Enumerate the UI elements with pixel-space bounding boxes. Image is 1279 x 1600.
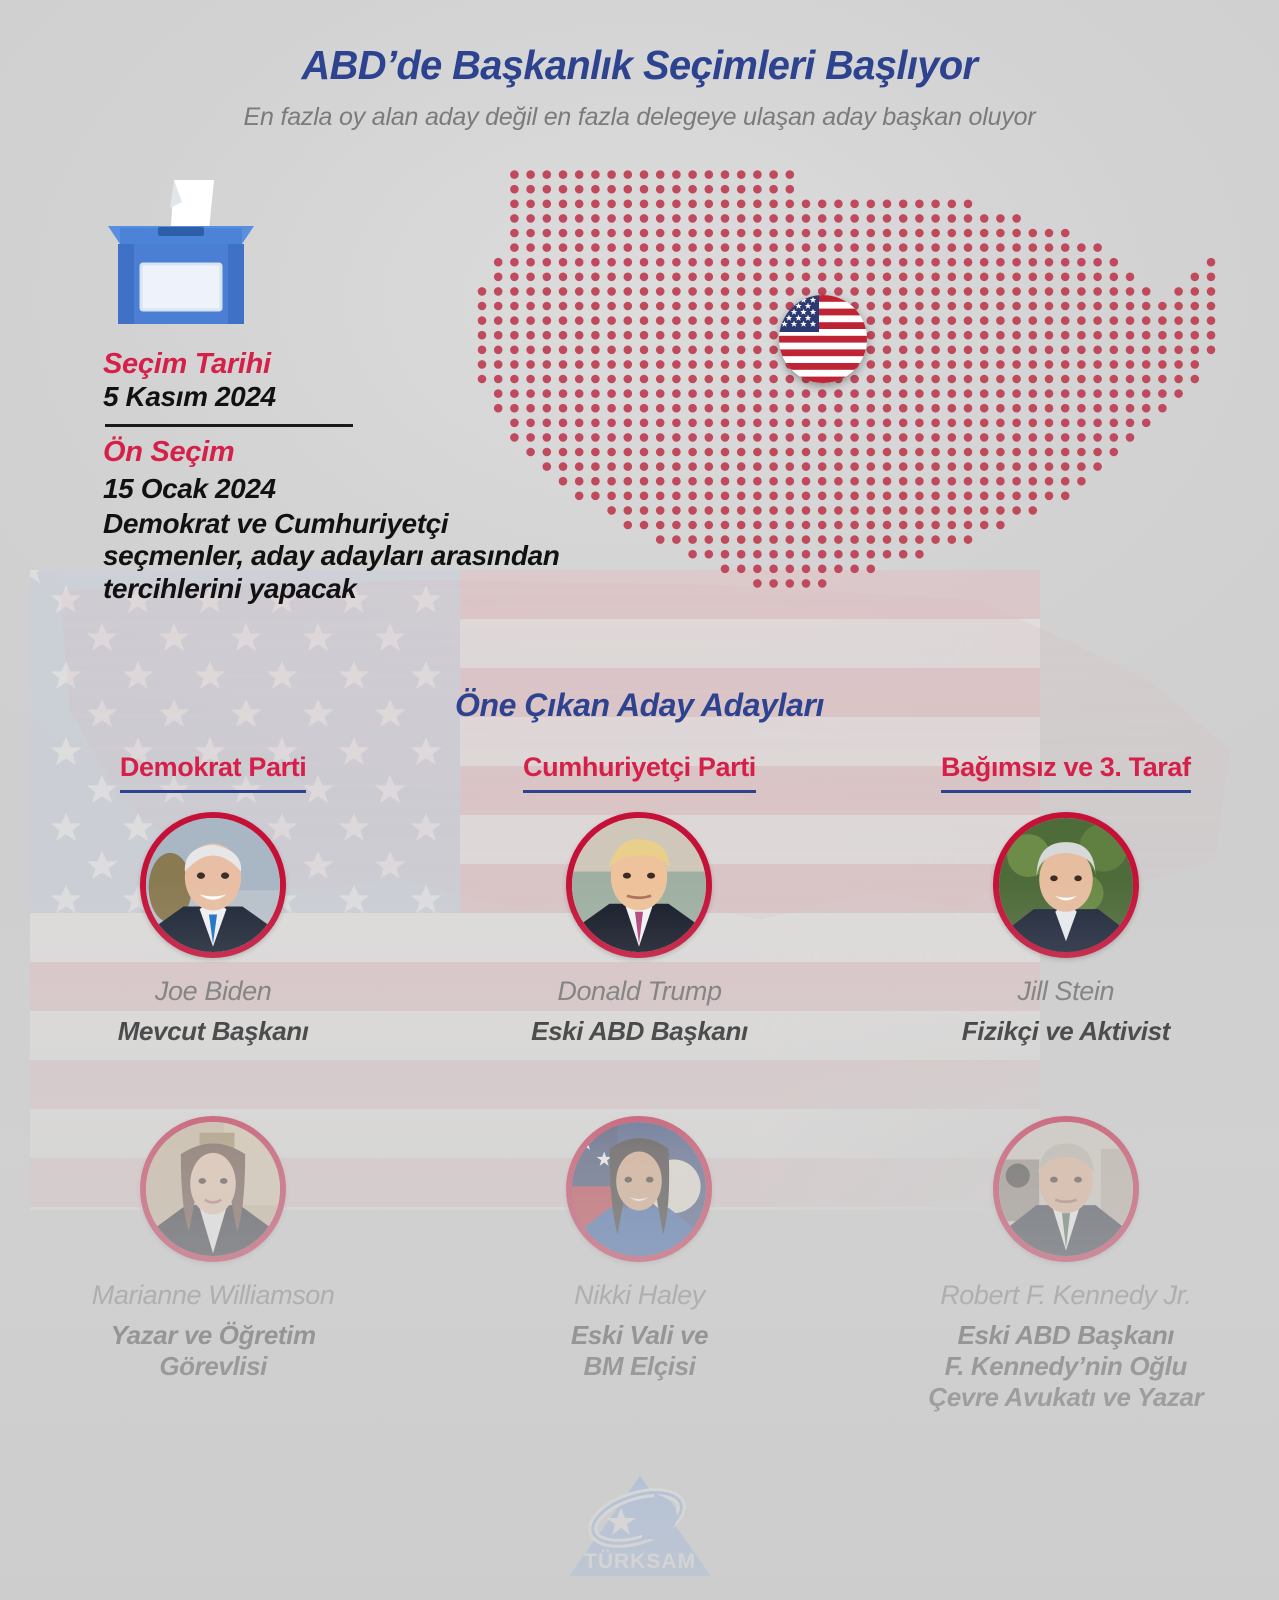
- jill-stein-portrait: [993, 812, 1139, 958]
- us-dot-map: [470, 150, 1230, 600]
- turksam-logo: TÜRKSAM: [565, 1472, 715, 1584]
- party-column-republican: Cumhuriyetçi Parti: [426, 752, 852, 793]
- robert-f-kennedy-jr-portrait: [993, 1116, 1139, 1262]
- donald-trump-portrait: [566, 812, 712, 958]
- page-title: ABD’de Başkanlık Seçimleri Başlıyor: [19, 42, 1260, 89]
- us-flag-badge-icon: [779, 295, 867, 383]
- candidate-name: Robert F. Kennedy Jr.: [940, 1280, 1191, 1311]
- marianne-williamson-portrait: [140, 1116, 286, 1262]
- party-label-independent: Bağımsız ve 3. Taraf: [941, 752, 1191, 793]
- candidate-row-2: Marianne Williamson Yazar ve ÖğretimGöre…: [0, 1116, 1279, 1414]
- candidate-card-joe-biden[interactable]: Joe Biden Mevcut Başkanı: [0, 812, 426, 1047]
- party-column-independent: Bağımsız ve 3. Taraf: [853, 752, 1279, 793]
- candidate-card-marianne-williamson[interactable]: Marianne Williamson Yazar ve ÖğretimGöre…: [0, 1116, 426, 1414]
- ballot-box-icon: [96, 168, 266, 333]
- nikki-haley-portrait: [566, 1116, 712, 1262]
- candidate-role: Eski ABD BaşkanıF. Kennedy’nin OğluÇevre…: [928, 1320, 1203, 1414]
- candidate-row-1: Joe Biden Mevcut Başkanı Donald Trump Es…: [0, 812, 1279, 1047]
- candidate-name: Jill Stein: [1018, 976, 1115, 1007]
- divider: [105, 424, 353, 427]
- candidate-card-robert-f-kennedy-jr[interactable]: Robert F. Kennedy Jr. Eski ABD BaşkanıF.…: [853, 1116, 1279, 1414]
- candidate-role: Yazar ve ÖğretimGörevlisi: [111, 1320, 316, 1382]
- candidate-name: Joe Biden: [155, 976, 272, 1007]
- candidate-role: Eski ABD Başkanı: [531, 1016, 748, 1047]
- candidate-name: Marianne Williamson: [92, 1280, 335, 1311]
- candidate-role: Fizikçi ve Aktivist: [962, 1016, 1170, 1047]
- candidate-card-nikki-haley[interactable]: Nikki Haley Eski Vali veBM Elçisi: [426, 1116, 852, 1414]
- candidate-name: Nikki Haley: [574, 1280, 705, 1311]
- candidate-role: Mevcut Başkanı: [118, 1016, 309, 1047]
- joe-biden-portrait: [140, 812, 286, 958]
- party-label-republican: Cumhuriyetçi Parti: [523, 752, 756, 793]
- candidates-heading: Öne Çıkan Aday Adayları: [0, 687, 1279, 724]
- party-header-row: Demokrat Parti Cumhuriyetçi Parti Bağıms…: [0, 752, 1279, 793]
- party-column-democrat: Demokrat Parti: [0, 752, 426, 793]
- page-subtitle: En fazla oy alan aday değil en fazla del…: [0, 103, 1279, 132]
- party-label-democrat: Demokrat Parti: [120, 752, 306, 793]
- candidate-name: Donald Trump: [557, 976, 721, 1007]
- candidate-card-donald-trump[interactable]: Donald Trump Eski ABD Başkanı: [426, 812, 852, 1047]
- header: ABD’de Başkanlık Seçimleri Başlıyor En f…: [0, 0, 1279, 132]
- candidate-card-jill-stein[interactable]: Jill Stein Fizikçi ve Aktivist: [853, 812, 1279, 1047]
- candidate-role: Eski Vali veBM Elçisi: [571, 1320, 708, 1382]
- logo-text: TÜRKSAM: [584, 1550, 696, 1573]
